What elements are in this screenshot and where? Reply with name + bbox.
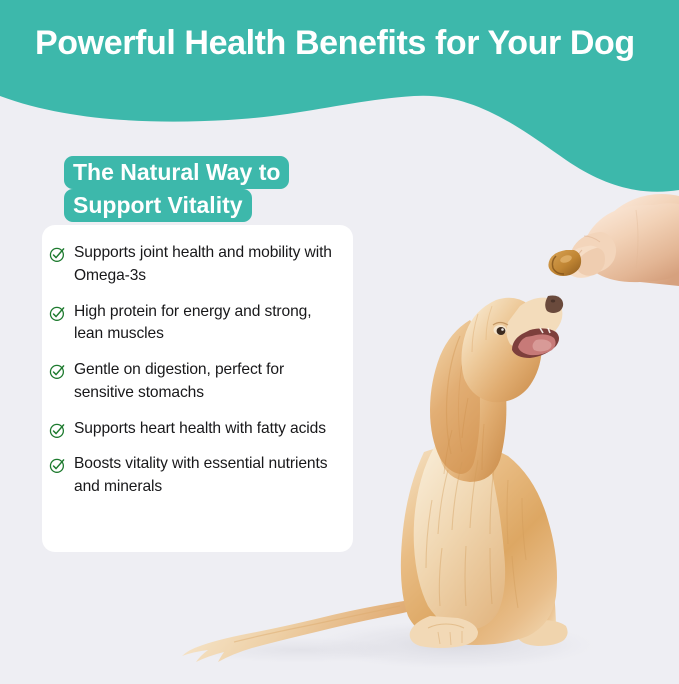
list-item: Boosts vitality with essential nutrients…	[48, 453, 339, 499]
page-title: Powerful Health Benefits for Your Dog	[35, 24, 655, 63]
subtitle-badge: The Natural Way to Support Vitality	[64, 156, 354, 221]
list-item-label: Boosts vitality with essential nutrients…	[74, 453, 339, 499]
check-circle-icon	[49, 422, 66, 439]
list-item-label: Supports heart health with fatty acids	[74, 418, 326, 441]
benefits-card: Supports joint health and mobility with …	[42, 225, 353, 552]
list-item-label: Supports joint health and mobility with …	[74, 242, 339, 288]
list-item: Supports heart health with fatty acids	[48, 418, 339, 441]
check-circle-icon	[49, 457, 66, 474]
check-circle-icon	[49, 305, 66, 322]
check-circle-icon	[49, 246, 66, 263]
list-item: High protein for energy and strong, lean…	[48, 301, 339, 347]
dog-nose	[545, 296, 563, 314]
subtitle-line-2: Support Vitality	[64, 189, 252, 222]
list-item: Supports joint health and mobility with …	[48, 242, 339, 288]
list-item-label: High protein for energy and strong, lean…	[74, 301, 339, 347]
subtitle-line-1: The Natural Way to	[64, 156, 289, 189]
list-item: Gentle on digestion, perfect for sensiti…	[48, 359, 339, 405]
check-circle-icon	[49, 363, 66, 380]
list-item-label: Gentle on digestion, perfect for sensiti…	[74, 359, 339, 405]
